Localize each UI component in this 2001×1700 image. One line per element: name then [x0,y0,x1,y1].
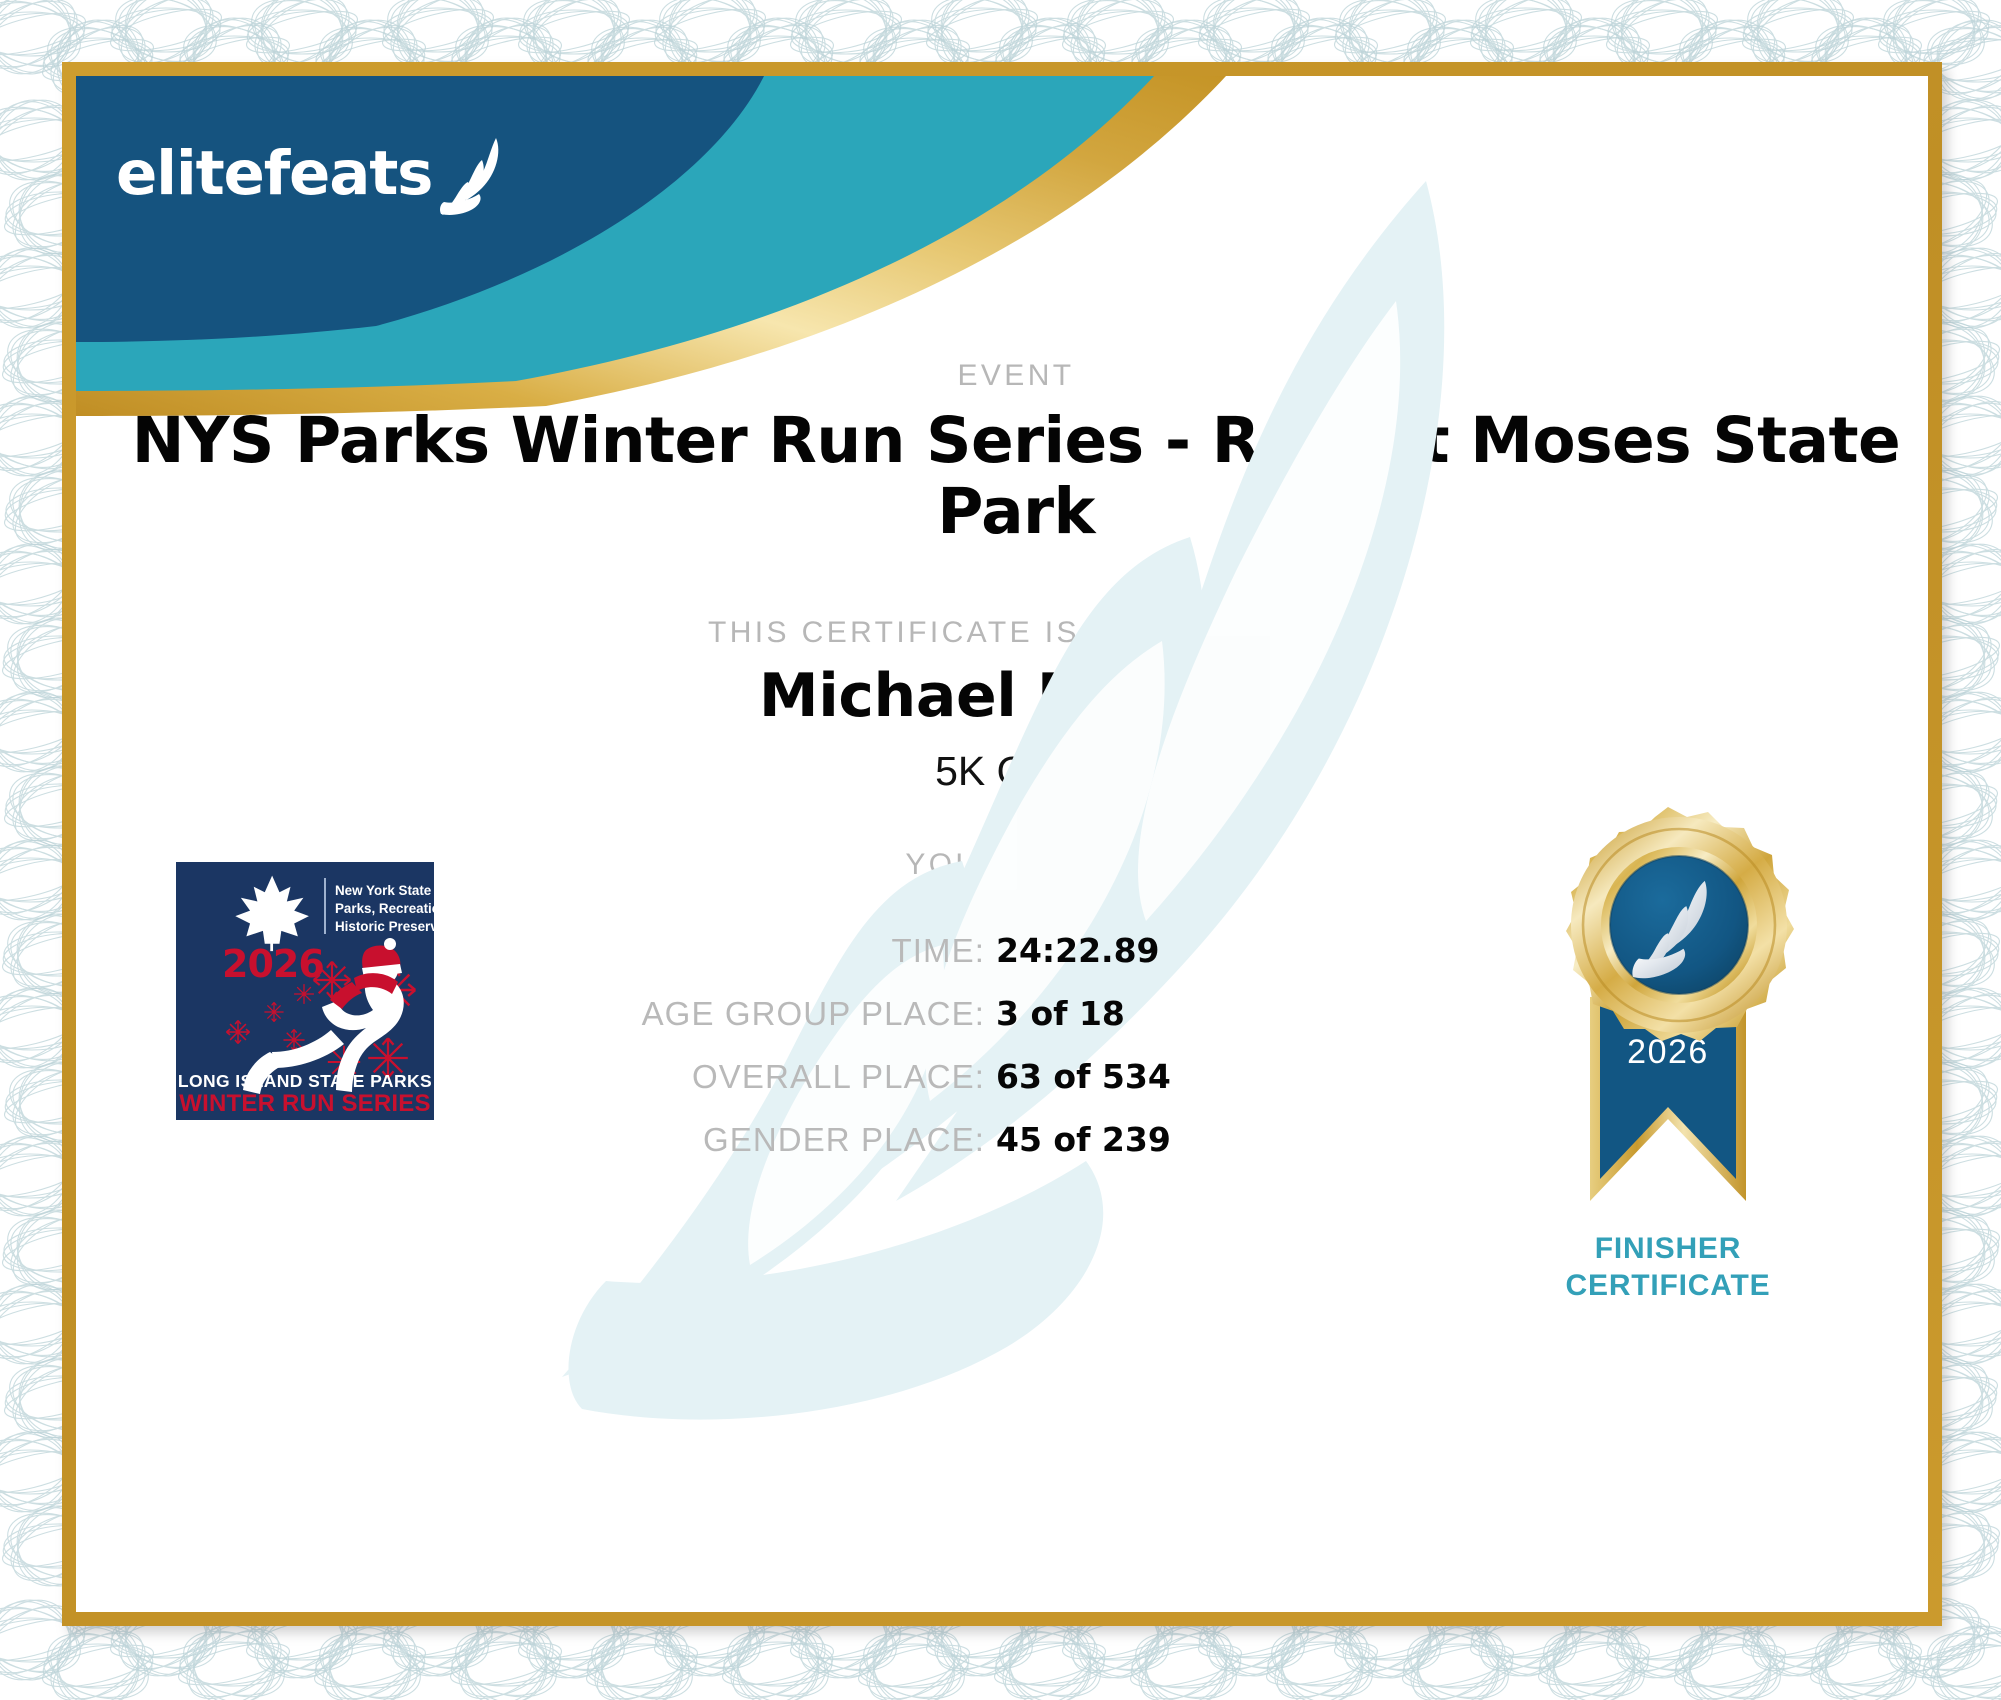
finisher-medal-badge: 2026 [1518,801,1818,1271]
medal-disc [1566,807,1794,1041]
event-title: NYS Parks Winter Run Series - Robert Mos… [76,406,1928,547]
svg-text:Parks, Recreation and: Parks, Recreation and [335,901,434,916]
stat-row-gender-place: GENDER PLACE: 45 of 239 [416,1120,1296,1183]
svg-text:2026: 2026 [222,942,324,986]
svg-text:New York State: New York State [335,883,431,898]
recipient-name: Michael Buszko [76,661,1928,731]
stat-label-time: TIME: [892,932,986,970]
finisher-certificate-caption: FINISHER CERTIFICATE [1468,1231,1868,1304]
stat-label-overall-place: OVERALL PLACE: [692,1058,985,1096]
event-series-logo: New York State Parks, Recreation and His… [176,862,434,1120]
brand-wordmark: elitefeats [116,143,432,204]
stat-label-gender-place: GENDER PLACE: [703,1121,985,1159]
svg-text:Historic Preservation: Historic Preservation [335,919,434,934]
stats-table: TIME: 24:22.89 AGE GROUP PLACE: 3 of 18 … [416,931,1296,1183]
stat-label-age-group-place: AGE GROUP PLACE: [642,995,985,1033]
recipient-division: 5K Open [76,748,1928,795]
stat-value-age-group-place: 3 of 18 [996,994,1296,1033]
stat-value-gender-place: 45 of 239 [996,1120,1296,1159]
certificate-body: elitefeats EVENT NYS Parks Winter Run Se… [76,76,1928,1612]
stat-value-time: 24:22.89 [996,931,1296,970]
series-line2: WINTER RUN SERIES [179,1090,430,1117]
stat-row-age-group-place: AGE GROUP PLACE: 3 of 18 [416,994,1296,1057]
caption-line-certificate: CERTIFICATE [1468,1268,1868,1305]
elitefeats-logo: elitefeats [116,136,512,204]
certificate-gold-frame: elitefeats EVENT NYS Parks Winter Run Se… [62,62,1942,1626]
series-line1: LONG ISLAND STATE PARKS [178,1071,432,1091]
awarded-to-label: THIS CERTIFICATE IS AWARDED TO [76,616,1928,650]
stat-row-time: TIME: 24:22.89 [416,931,1296,994]
stat-value-overall-place: 63 of 534 [996,1057,1296,1096]
winged-foot-icon [438,136,512,216]
stat-row-overall-place: OVERALL PLACE: 63 of 534 [416,1057,1296,1120]
certificate-page: elitefeats EVENT NYS Parks Winter Run Se… [0,0,2001,1700]
caption-line-finisher: FINISHER [1468,1231,1868,1268]
header-swoosh-graphic [76,76,1928,416]
